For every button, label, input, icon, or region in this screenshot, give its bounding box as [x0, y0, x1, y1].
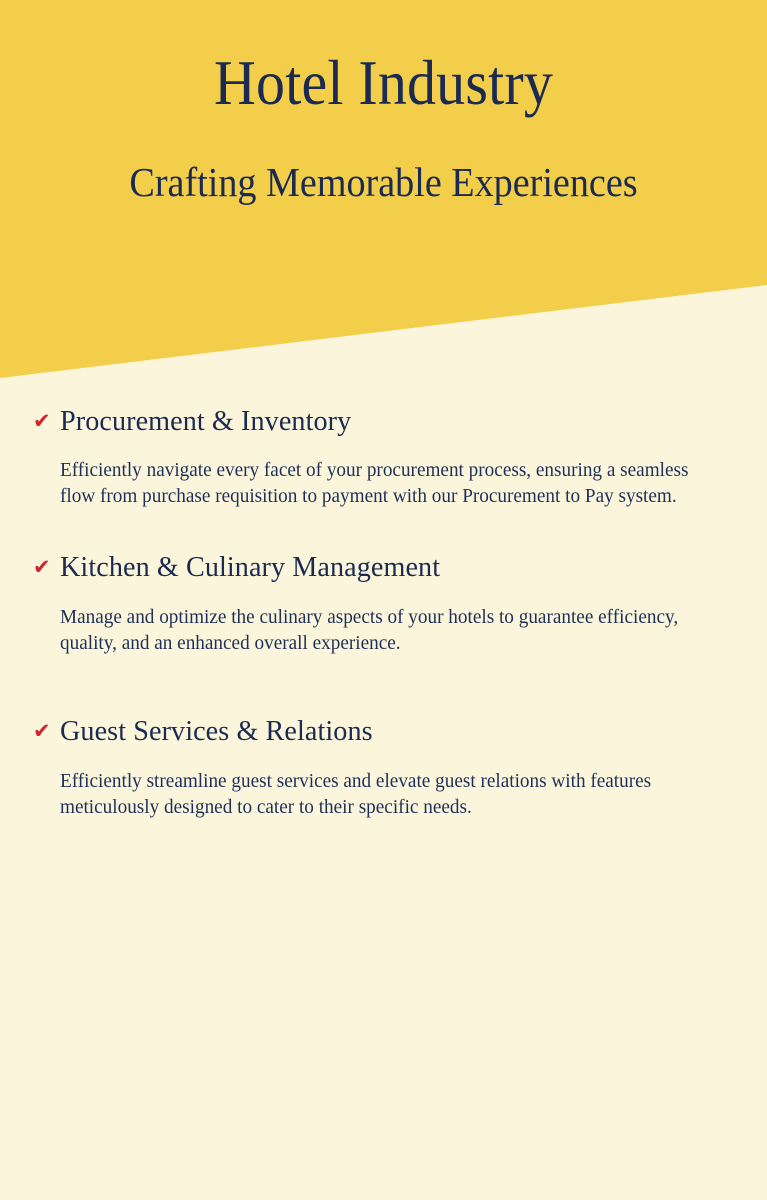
hotel-industry-page: Hotel Industry Crafting Memorable Experi… [0, 0, 767, 1200]
feature-item-kitchen-culinary-management: ✔ Kitchen & Culinary Management Manage a… [0, 550, 767, 656]
check-icon: ✔ [33, 557, 60, 578]
feature-heading-row: ✔ Guest Services & Relations [33, 714, 731, 748]
feature-list: ✔ Procurement & Inventory Efficiently na… [0, 404, 767, 820]
feature-heading-row: ✔ Procurement & Inventory [33, 404, 731, 438]
feature-title: Procurement & Inventory [60, 404, 351, 438]
feature-description: Efficiently navigate every facet of your… [60, 458, 721, 509]
feature-description: Efficiently streamline guest services an… [60, 769, 721, 820]
page-title: Hotel Industry [31, 52, 737, 115]
feature-item-guest-services-relations: ✔ Guest Services & Relations Efficiently… [0, 714, 767, 820]
check-icon: ✔ [33, 721, 60, 742]
feature-description: Manage and optimize the culinary aspects… [60, 605, 721, 656]
check-icon: ✔ [33, 411, 60, 432]
page-subtitle: Crafting Memorable Experiences [27, 162, 740, 203]
feature-item-procurement-inventory: ✔ Procurement & Inventory Efficiently na… [0, 404, 767, 509]
feature-title: Kitchen & Culinary Management [60, 550, 440, 584]
feature-title: Guest Services & Relations [60, 714, 373, 748]
feature-heading-row: ✔ Kitchen & Culinary Management [33, 550, 731, 584]
